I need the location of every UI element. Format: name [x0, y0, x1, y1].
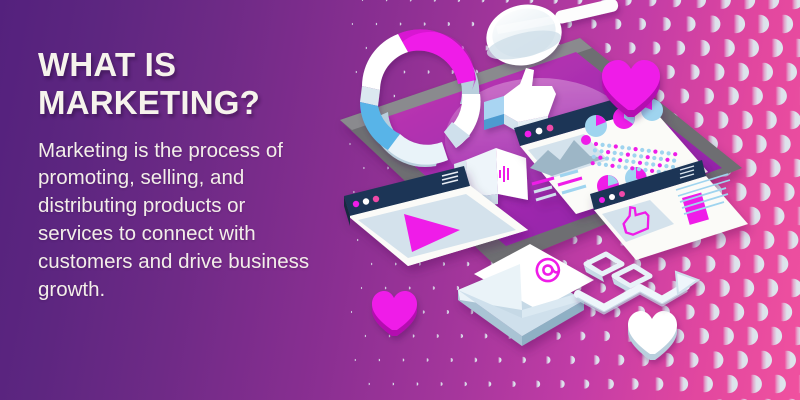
heart-magenta-bottom	[372, 291, 417, 336]
heart-white	[628, 311, 677, 360]
body-paragraph: Marketing is the process of promoting, s…	[38, 137, 316, 304]
infographic-canvas: WHAT IS MARKETING? Marketing is the proc…	[0, 0, 800, 400]
headline-line-2: MARKETING?	[38, 84, 316, 122]
chart-sun-dot	[581, 135, 591, 145]
headline-line-1: WHAT IS	[38, 46, 176, 83]
marketing-illustration	[330, 0, 800, 400]
window-dot-2	[363, 198, 369, 204]
envelope	[458, 244, 594, 346]
page-title: WHAT IS MARKETING?	[38, 46, 316, 123]
window-dot-1	[353, 201, 359, 207]
growth-arrow	[578, 254, 698, 313]
text-column: WHAT IS MARKETING? Marketing is the proc…	[38, 46, 316, 304]
window-dot-3	[373, 196, 379, 202]
